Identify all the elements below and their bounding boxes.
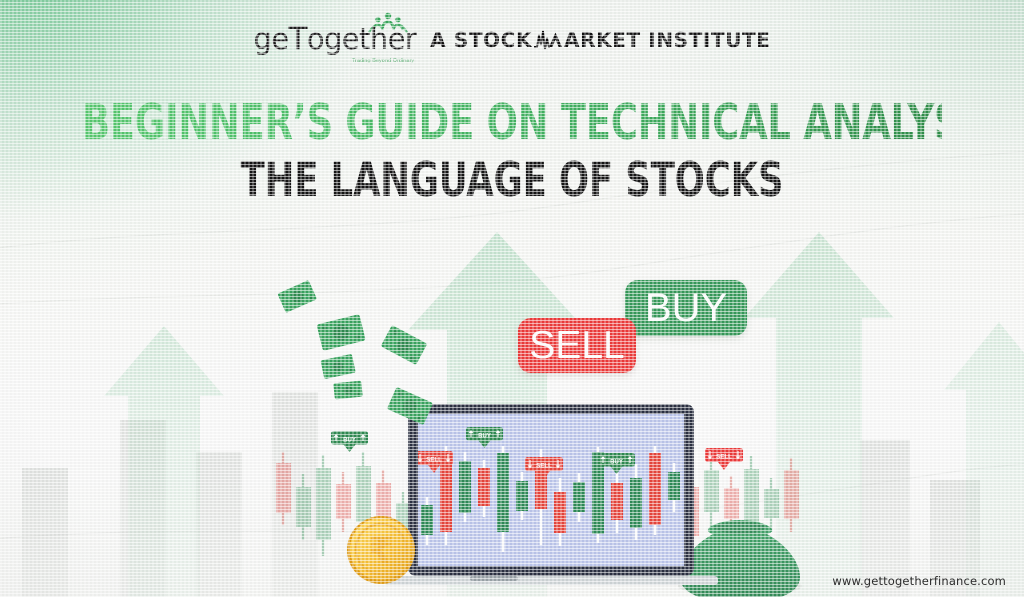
svg-text:BUY: BUY bbox=[343, 437, 356, 443]
bg-marker-buy: BUY bbox=[331, 431, 368, 452]
page-title-line2: THE LANGUAGE OF STOCKS bbox=[82, 157, 942, 204]
sell-badge[interactable]: SELL bbox=[518, 318, 636, 373]
institute-title: A STOCK ARKET INSTITUTE bbox=[430, 28, 770, 52]
candle bbox=[764, 478, 779, 532]
website-url[interactable]: www.gettogetherfinance.com bbox=[832, 574, 1006, 588]
page-title-line1: BEGINNER’S GUIDE ON TECHNICAL ANALYSIS: bbox=[82, 98, 942, 147]
candle bbox=[649, 446, 661, 535]
institute-pre: A STOCK bbox=[430, 28, 532, 52]
brand-header: geTogether Trading Beyond Ordinary A STO… bbox=[0, 24, 1024, 55]
svg-text:SELL: SELL bbox=[716, 454, 732, 461]
brand-wordmark: geTogether bbox=[253, 24, 416, 55]
svg-text:SELL: SELL bbox=[536, 463, 552, 470]
poster-canvas: geTogether Trading Beyond Ordinary A STO… bbox=[0, 0, 1024, 597]
candle bbox=[316, 455, 331, 556]
brand-ge: ge bbox=[253, 22, 288, 56]
candle bbox=[296, 474, 311, 540]
svg-text:SELL: SELL bbox=[426, 457, 442, 464]
ecg-pulse-icon bbox=[533, 29, 563, 51]
rupee-coin-icon: ₹ bbox=[347, 516, 415, 584]
getogether-logo[interactable]: geTogether Trading Beyond Ordinary bbox=[253, 24, 416, 55]
candle bbox=[336, 472, 351, 532]
brand-t: T bbox=[289, 21, 307, 57]
flying-banknotes-icon bbox=[277, 280, 433, 425]
candle bbox=[784, 458, 799, 532]
brand-ogether: ogether bbox=[307, 22, 416, 56]
svg-text:BUY: BUY bbox=[610, 459, 623, 465]
illustration: SELL BUY bbox=[0, 0, 1024, 597]
buy-badge[interactable]: BUY bbox=[625, 280, 747, 336]
svg-text:BUY: BUY bbox=[478, 433, 491, 439]
candle bbox=[459, 452, 471, 522]
laptop-icon: SELL BUY SELL bbox=[384, 404, 718, 585]
svg-text:₹: ₹ bbox=[368, 531, 393, 572]
institute-post: ARKET INSTITUTE bbox=[564, 28, 771, 52]
brand-tagline: Trading Beyond Ordinary bbox=[352, 58, 414, 64]
candle bbox=[704, 458, 719, 528]
candle bbox=[276, 452, 291, 525]
